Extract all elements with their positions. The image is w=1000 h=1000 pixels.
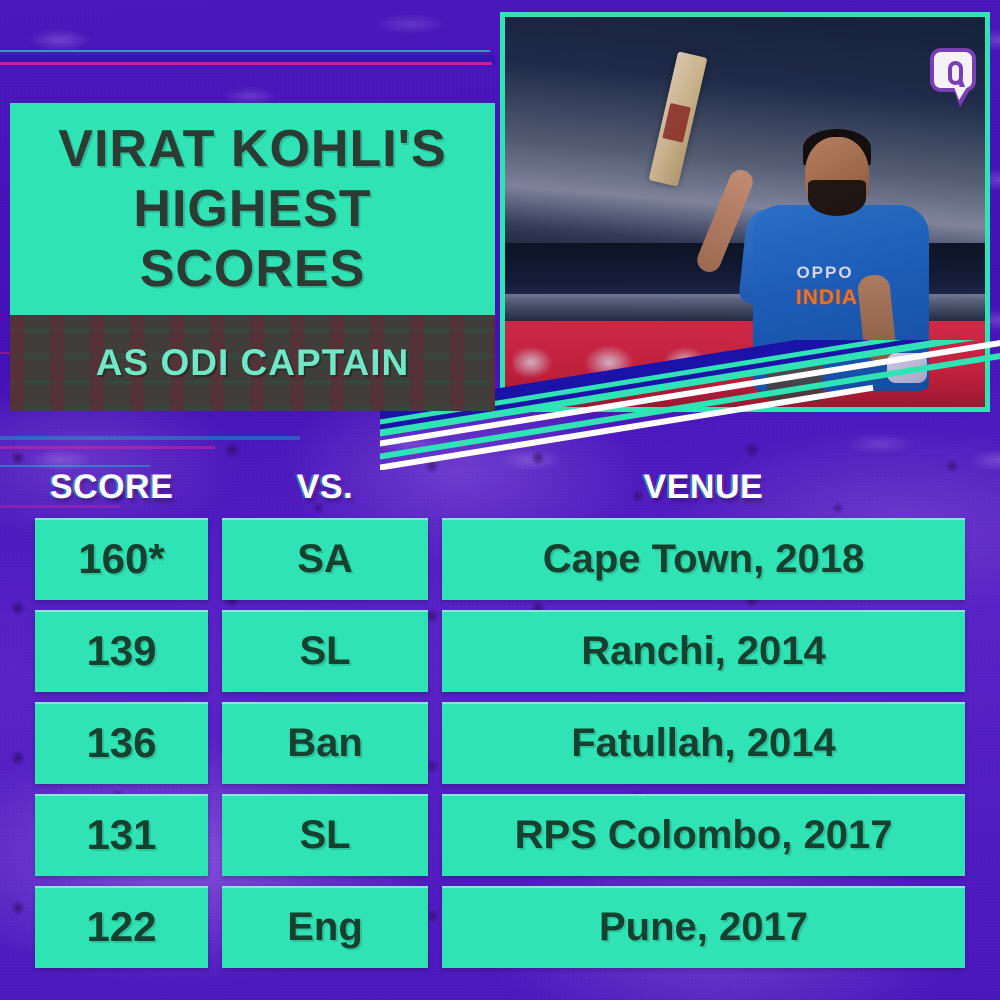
title-line-3: SCORES bbox=[10, 243, 495, 295]
title-line-2: HIGHEST bbox=[10, 183, 495, 235]
table-row: 131 SL RPS Colombo, 2017 bbox=[0, 794, 1000, 886]
glitch-line-cyan-lower bbox=[0, 436, 300, 440]
logo-pointer-inner bbox=[954, 87, 967, 100]
cell-venue: RPS Colombo, 2017 bbox=[442, 794, 965, 876]
cell-venue: Pune, 2017 bbox=[442, 886, 965, 968]
column-header-venue: VENUE bbox=[442, 468, 965, 507]
table-row: 139 SL Ranchi, 2014 bbox=[0, 610, 1000, 702]
cell-vs: SL bbox=[222, 610, 428, 692]
title-panel: VIRAT KOHLI'S HIGHEST SCORES bbox=[10, 103, 495, 315]
cell-vs: SA bbox=[222, 518, 428, 600]
cell-vs: SL bbox=[222, 794, 428, 876]
table-row: 136 Ban Fatullah, 2014 bbox=[0, 702, 1000, 794]
cell-score: 122 bbox=[35, 886, 208, 968]
column-header-score: SCORE bbox=[50, 468, 173, 507]
cell-venue: Cape Town, 2018 bbox=[442, 518, 965, 600]
cell-vs: Ban bbox=[222, 702, 428, 784]
subtitle-band: AS ODI CAPTAIN bbox=[10, 315, 495, 411]
glitch-line-magenta bbox=[0, 62, 492, 65]
subtitle-text: AS ODI CAPTAIN bbox=[10, 315, 495, 411]
logo-bubble bbox=[930, 48, 976, 92]
table-row: 122 Eng Pune, 2017 bbox=[0, 886, 1000, 978]
cell-venue: Ranchi, 2014 bbox=[442, 610, 965, 692]
glitch-line-teal bbox=[0, 50, 490, 52]
table-row: 160* SA Cape Town, 2018 bbox=[0, 518, 1000, 610]
table-header-row: SCORE VS. VENUE bbox=[0, 462, 1000, 518]
title-line-1: VIRAT KOHLI'S bbox=[10, 123, 495, 175]
cell-vs: Eng bbox=[222, 886, 428, 968]
the-quint-logo bbox=[930, 48, 976, 106]
cell-score: 131 bbox=[35, 794, 208, 876]
glitch-line-magenta-lower bbox=[0, 446, 215, 449]
cell-score: 160* bbox=[35, 518, 208, 600]
cell-score: 136 bbox=[35, 702, 208, 784]
column-header-vs: VS. bbox=[222, 468, 428, 507]
scores-table: SCORE VS. VENUE 160* SA Cape Town, 2018 … bbox=[0, 462, 1000, 978]
cell-score: 139 bbox=[35, 610, 208, 692]
cell-venue: Fatullah, 2014 bbox=[442, 702, 965, 784]
